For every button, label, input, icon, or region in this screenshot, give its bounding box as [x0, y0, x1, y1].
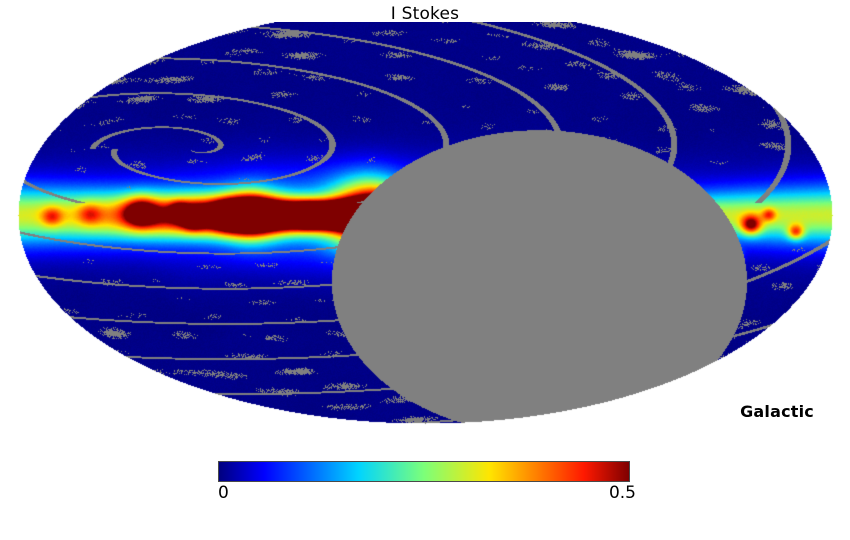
- colorbar-min-label: 0: [218, 483, 229, 503]
- colorbar-gradient[interactable]: [218, 461, 630, 482]
- colorbar-max-label: 0.5: [596, 483, 636, 503]
- sky-map-canvas: [0, 22, 850, 452]
- colorbar[interactable]: [218, 461, 630, 482]
- skymap-figure: I Stokes Galactic 0 0.5: [0, 0, 850, 540]
- coordinate-system-label: Galactic: [740, 402, 814, 421]
- page-title: I Stokes: [0, 4, 850, 24]
